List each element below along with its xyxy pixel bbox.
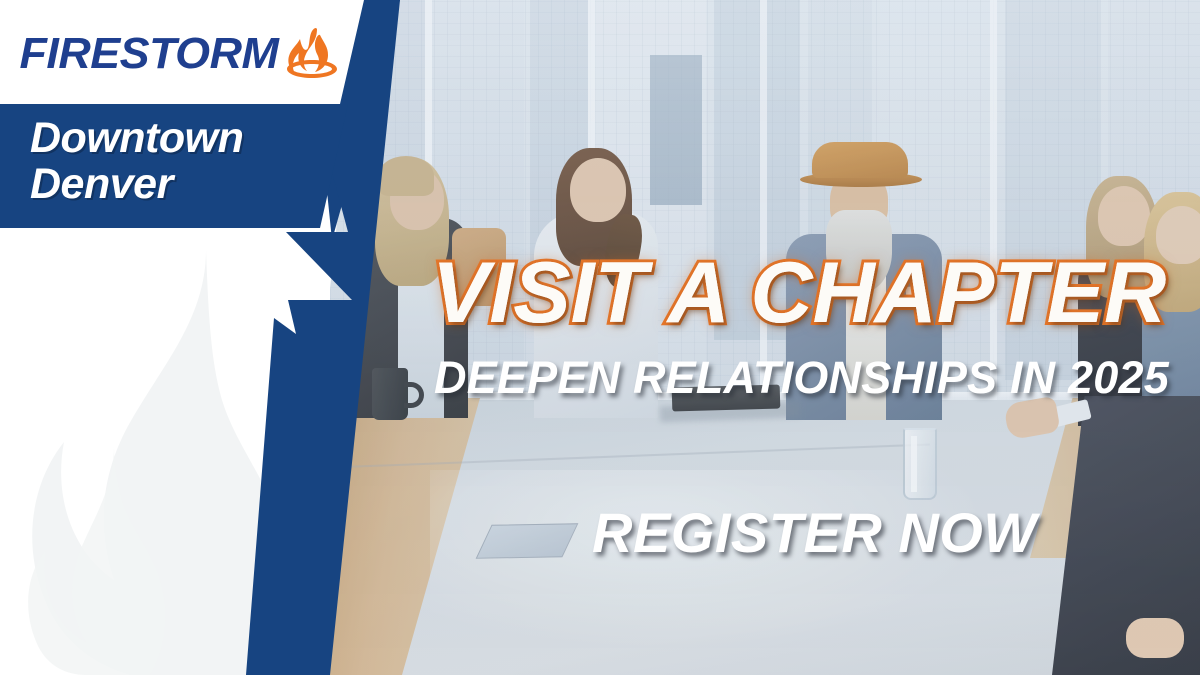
event-banner: Downtown Denver FIRESTORM VISIT A CHA	[0, 0, 1200, 675]
register-now-cta[interactable]: REGISTER NOW	[592, 505, 1037, 561]
headline-title: VISIT A CHAPTER	[432, 250, 1172, 336]
marketing-copy: VISIT A CHAPTER VISIT A CHAPTER DEEPEN R…	[0, 0, 1200, 675]
headline-subtitle: DEEPEN RELATIONSHIPS IN 2025	[434, 355, 1169, 400]
